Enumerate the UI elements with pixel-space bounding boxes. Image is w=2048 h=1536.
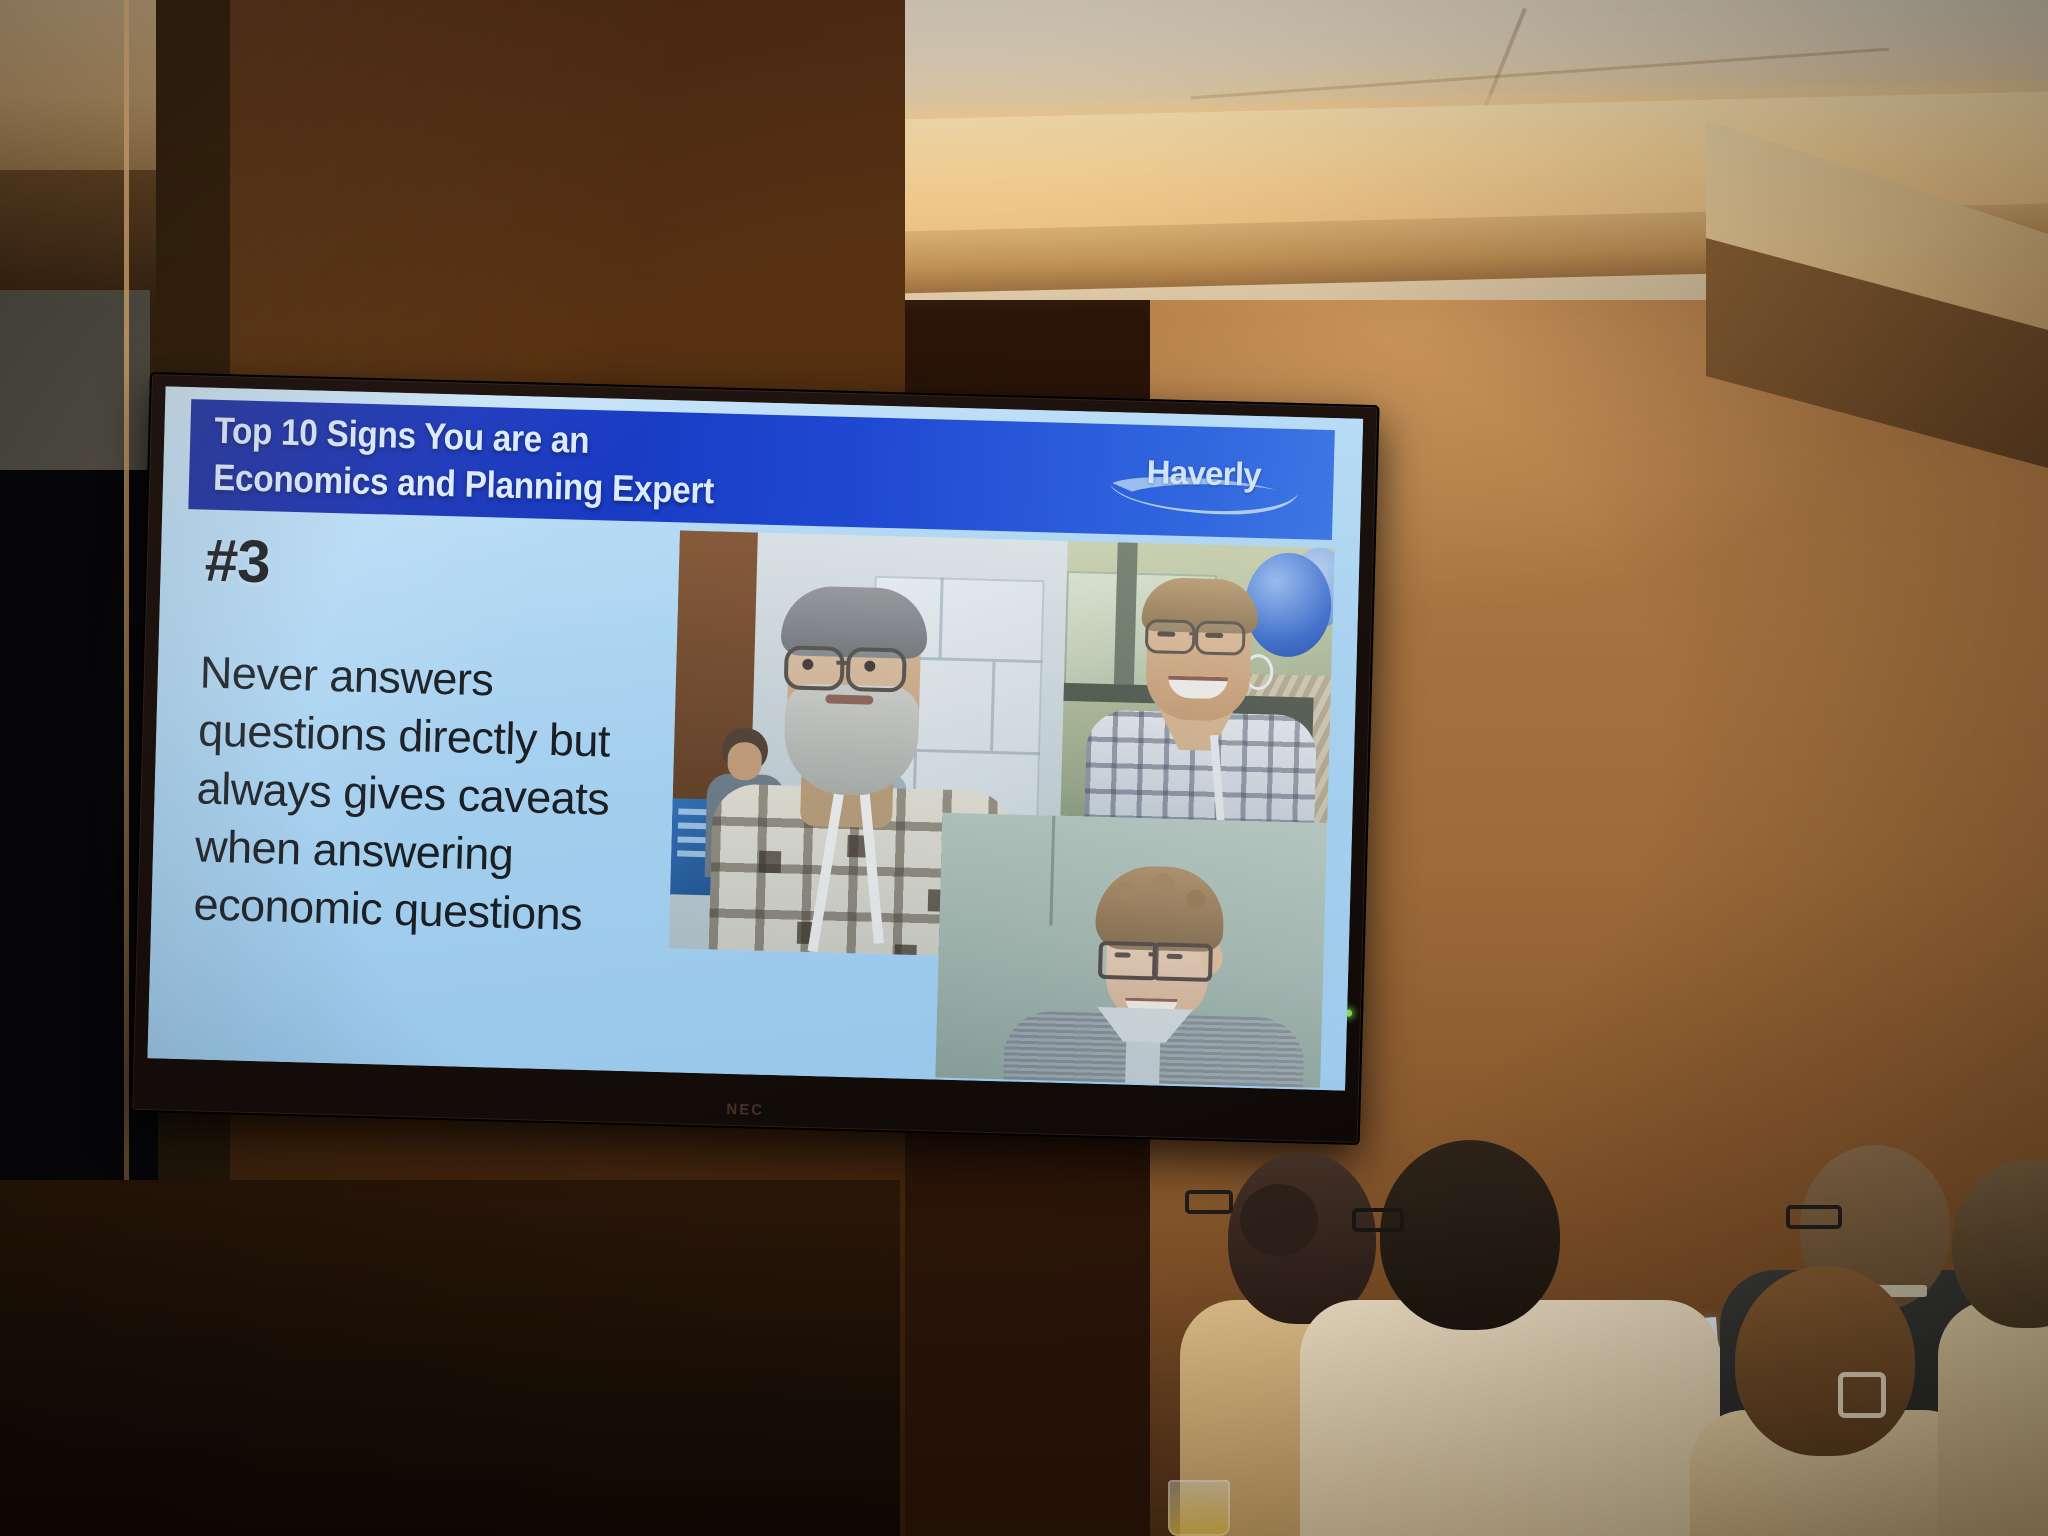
floor-shadow bbox=[0, 1180, 900, 1536]
logo-wordmark: Haverly bbox=[1146, 453, 1261, 494]
attendee-head bbox=[1735, 1266, 1915, 1456]
drinking-glass bbox=[1168, 1480, 1230, 1536]
photo-collage bbox=[665, 530, 1334, 1088]
presentation-display[interactable]: NEC Top 10 Signs You are an Economics an… bbox=[130, 372, 1380, 1145]
eyeglasses-icon bbox=[1786, 1205, 1842, 1229]
photo-smiling-man bbox=[1060, 541, 1334, 823]
slide-title: Top 10 Signs You are an Economics and Pl… bbox=[213, 407, 908, 520]
slide-item-number: #3 bbox=[204, 526, 271, 597]
hair-clip bbox=[1838, 1372, 1886, 1418]
haverly-logo: Haverly bbox=[1105, 448, 1312, 526]
conference-room-scene: NEC Top 10 Signs You are an Economics an… bbox=[0, 0, 2048, 1536]
slide-canvas: Top 10 Signs You are an Economics and Pl… bbox=[147, 386, 1363, 1090]
hair-bun bbox=[1240, 1184, 1318, 1256]
attendee-body bbox=[1300, 1300, 1720, 1536]
eyeglasses-icon bbox=[1185, 1190, 1233, 1214]
slide-body-text: Never answers questions directly but alw… bbox=[193, 643, 656, 945]
photo-curly-man bbox=[935, 813, 1327, 1088]
eyeglasses-icon bbox=[1352, 1208, 1404, 1232]
attendee-body bbox=[1938, 1300, 2048, 1536]
slide-title-banner: Top 10 Signs You are an Economics and Pl… bbox=[188, 399, 1335, 540]
attendee-head bbox=[1380, 1140, 1560, 1330]
display-screen[interactable]: Top 10 Signs You are an Economics and Pl… bbox=[147, 386, 1363, 1090]
display-brand-label: NEC bbox=[726, 1101, 764, 1119]
